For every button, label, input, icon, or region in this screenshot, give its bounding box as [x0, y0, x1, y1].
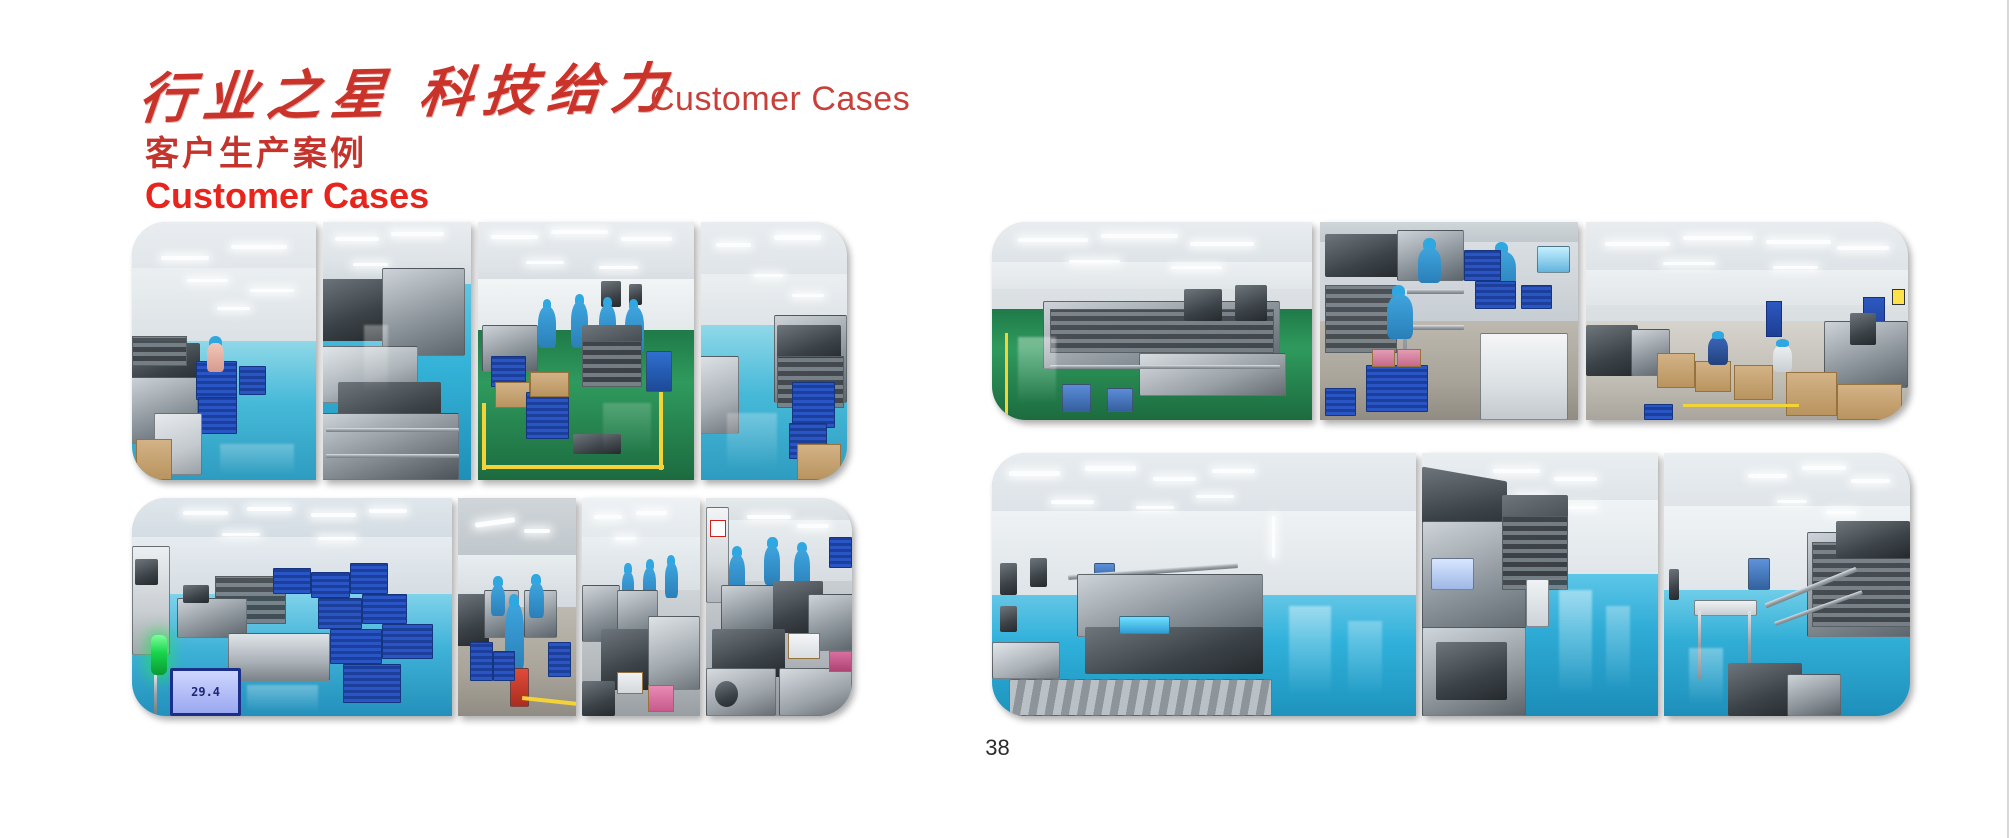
- subtitle-chinese: 客户生产案例: [145, 126, 367, 175]
- photo-cleanroom-aisle-blue-crates[interactable]: [132, 222, 316, 480]
- top-right-photo-row: [992, 222, 1908, 420]
- photo-packing-station-trolley[interactable]: [1320, 222, 1578, 420]
- bottom-left-photo-row: 29.4: [132, 498, 852, 716]
- page-number: 38: [985, 735, 1009, 761]
- photo-cleanroom-conveyor-blue-floor[interactable]: [992, 453, 1416, 716]
- subtitle-english: Customer Cases: [145, 175, 429, 217]
- photo-operators-green-floor[interactable]: [478, 222, 694, 480]
- top-left-photo-row: [132, 222, 847, 480]
- photo-machine-hall-operators[interactable]: [582, 498, 700, 716]
- calligraphy-title: 行业之星 科技给力: [135, 43, 680, 133]
- photo-warehouse-carton-packing[interactable]: [1586, 222, 1908, 420]
- photo-dense-machine-row[interactable]: [706, 498, 852, 716]
- page-number-area: 38: [0, 735, 2007, 761]
- bottom-right-photo-row: [992, 453, 1910, 716]
- slide-header: 行业之星 科技给力 Customer Cases 客户生产案例 Customer…: [0, 0, 2007, 215]
- photo-cleanroom-line-workbench[interactable]: [1664, 453, 1910, 716]
- photo-hmi-tower-light-station[interactable]: 29.4: [132, 498, 452, 716]
- photo-corridor-machines-crates[interactable]: [701, 222, 847, 480]
- photo-worker-blue-gown-line[interactable]: [458, 498, 576, 716]
- photo-equipment-rack-corridor[interactable]: [1422, 453, 1658, 716]
- slide-canvas: 行业之星 科技给力 Customer Cases 客户生产案例 Customer…: [0, 0, 2009, 838]
- headline-english: Customer Cases: [650, 80, 910, 119]
- photo-long-machine-row-green-floor[interactable]: [992, 222, 1312, 420]
- photo-assembly-line-blue-floor[interactable]: [323, 222, 471, 480]
